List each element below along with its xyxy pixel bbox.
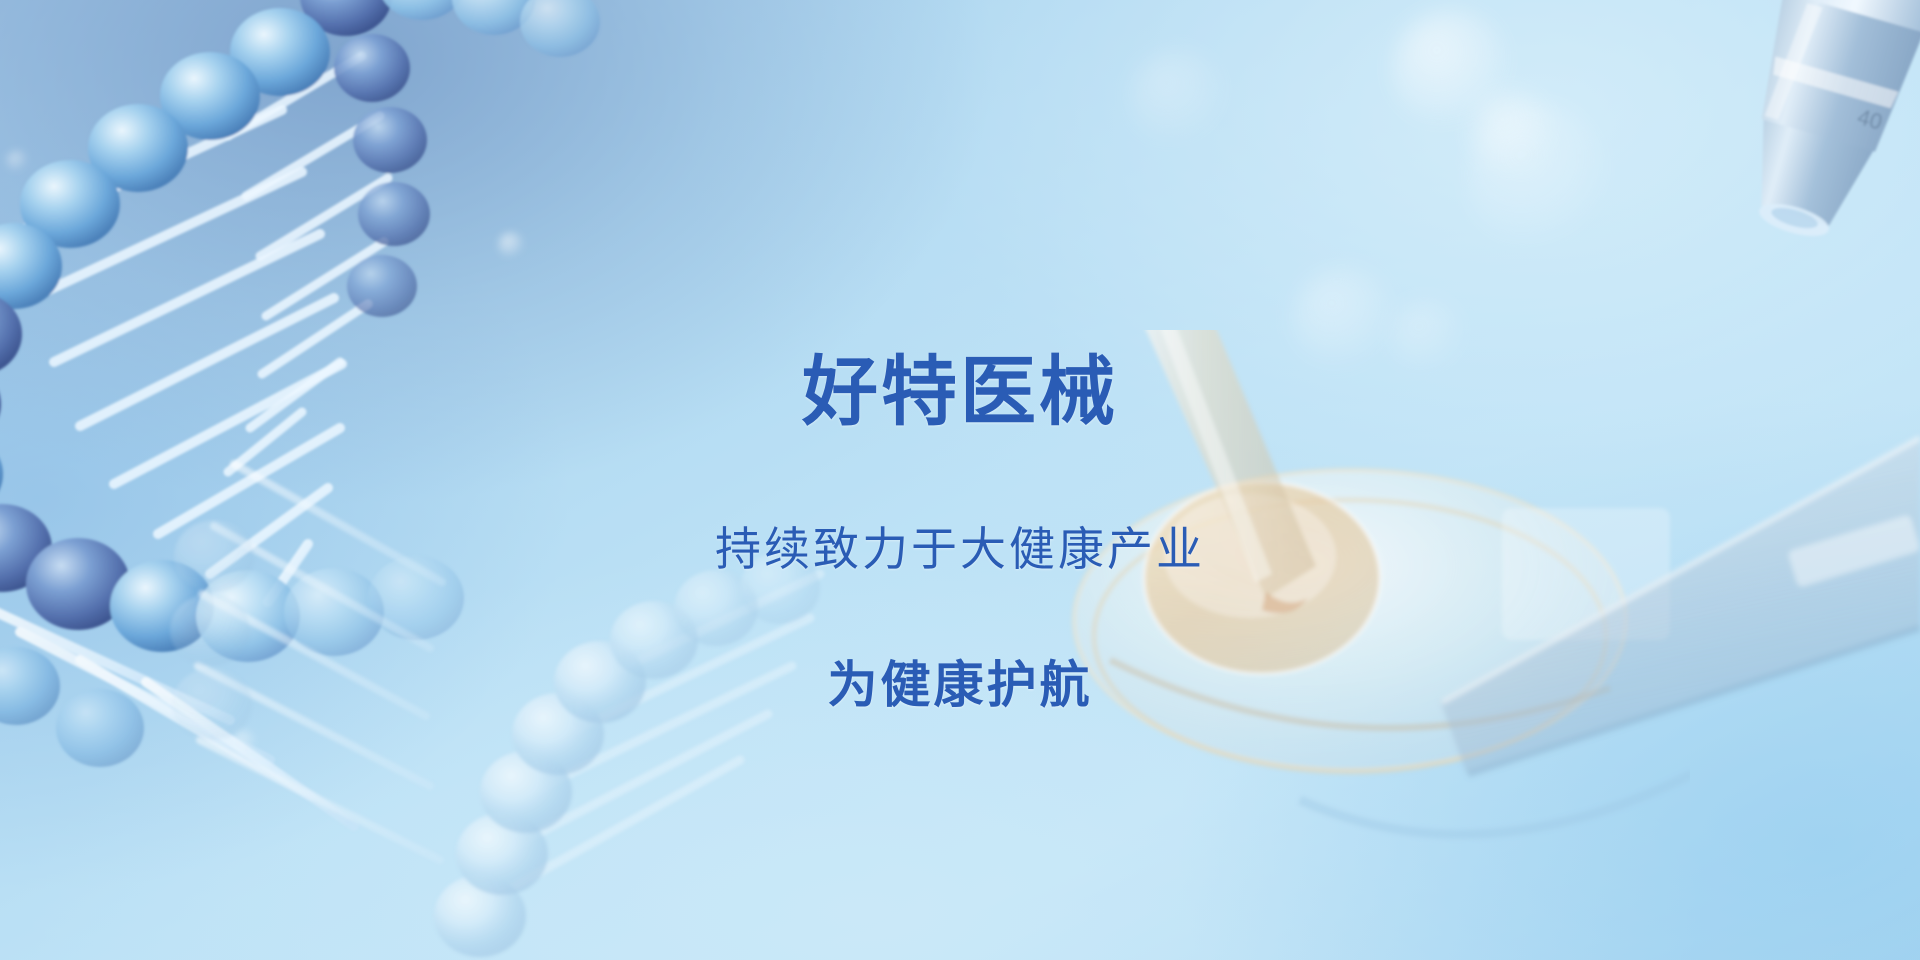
page-tagline: 为健康护航: [828, 660, 1093, 710]
hero-text-block: 好特医械 持续致力于大健康产业 为健康护航: [0, 0, 1920, 960]
hero-banner: 40: [0, 0, 1920, 960]
page-subtitle: 持续致力于大健康产业: [715, 526, 1205, 572]
page-title: 好特医械: [802, 355, 1118, 431]
